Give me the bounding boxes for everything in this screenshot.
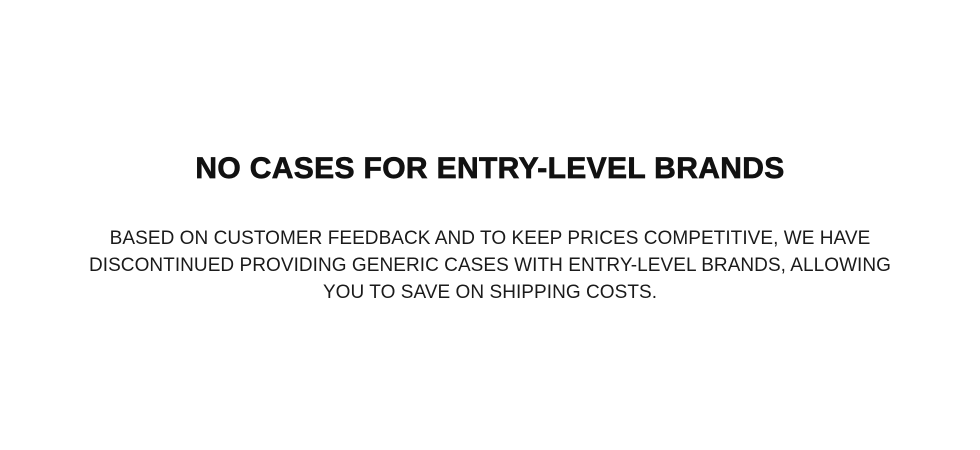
- promo-banner: NO CASES FOR ENTRY-LEVEL BRANDS BASED ON…: [0, 0, 980, 450]
- promo-description-line: YOU TO SAVE ON SHIPPING COSTS.: [40, 279, 940, 306]
- promo-description-line: DISCONTINUED PROVIDING GENERIC CASES WIT…: [40, 252, 940, 279]
- promo-description: BASED ON CUSTOMER FEEDBACK AND TO KEEP P…: [40, 225, 940, 306]
- promo-description-line: BASED ON CUSTOMER FEEDBACK AND TO KEEP P…: [40, 225, 940, 252]
- page-title: NO CASES FOR ENTRY-LEVEL BRANDS: [0, 150, 980, 188]
